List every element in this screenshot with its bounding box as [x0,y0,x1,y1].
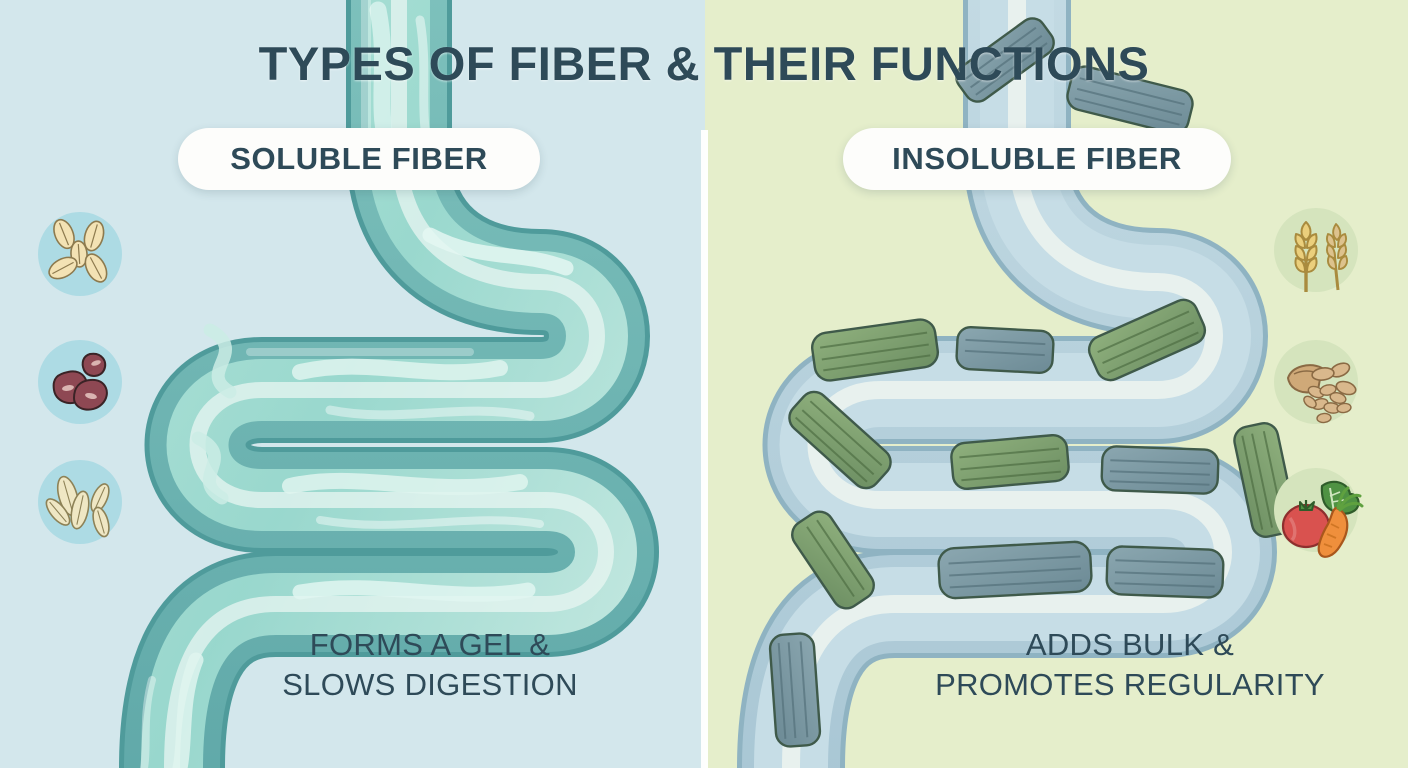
insoluble-caption-line-2: PROMOTES REGULARITY [880,665,1380,705]
wheat-icon [1274,208,1368,302]
infographic-canvas: TYPES OF FIBER & THEIR FUNCTIONS SOLUBLE… [0,0,1408,768]
insoluble-fiber-badge-label: INSOLUBLE FIBER [892,141,1182,177]
oats-icon [38,212,122,296]
barley-seeds-icon [38,460,122,544]
insoluble-fiber-caption: ADDS BULK & PROMOTES REGULARITY [880,625,1380,704]
soluble-fiber-caption: FORMS A GEL & SLOWS DIGESTION [215,625,645,704]
insoluble-fiber-badge: INSOLUBLE FIBER [843,128,1231,190]
soluble-caption-line-2: SLOWS DIGESTION [215,665,645,705]
soluble-fiber-badge: SOLUBLE FIBER [178,128,540,190]
soluble-fiber-badge-label: SOLUBLE FIBER [230,141,488,177]
vegetables-icon [1274,468,1368,562]
soluble-caption-line-1: FORMS A GEL & [215,625,645,665]
page-title: TYPES OF FIBER & THEIR FUNCTIONS [0,36,1408,91]
nuts-seeds-icon [1274,340,1368,434]
insoluble-caption-line-1: ADDS BULK & [880,625,1380,665]
beans-icon [38,340,122,424]
